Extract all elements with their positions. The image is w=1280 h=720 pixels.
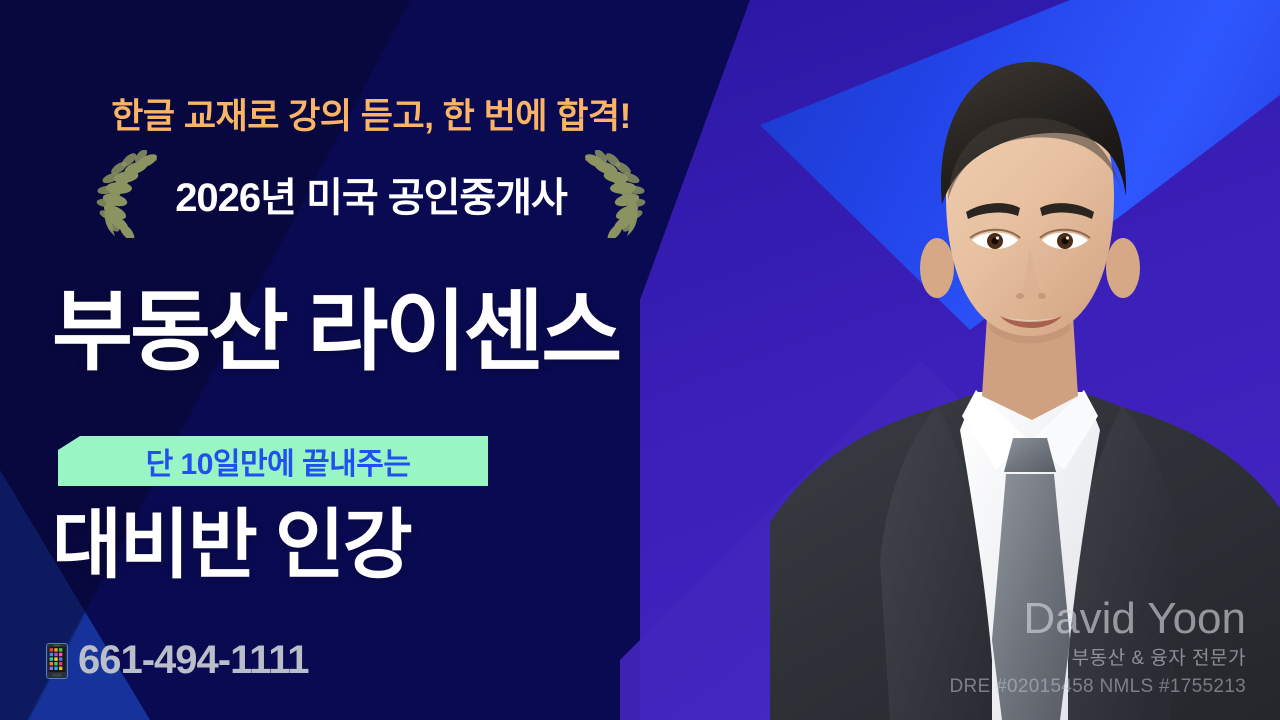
main-title: 부동산 라이센스 [52, 288, 619, 376]
badge-label: 단 10일만에 끝내주는 [136, 439, 411, 483]
phone-number[interactable]: 661-494-1111 [78, 638, 308, 683]
phone-row[interactable]: 661-494-1111 [46, 638, 308, 683]
text-content: 한글 교재로 강의 듣고, 한 번에 합격! [0, 0, 790, 720]
highlight-badge: 단 10일만에 끝내주는 [58, 436, 488, 486]
agent-licenses: DRE #02015458 NMLS #1755213 [950, 677, 1246, 698]
laurel-wreath-right-icon [575, 150, 649, 238]
laurel-wreath-left-icon [93, 150, 167, 238]
sub-title: 대비반 인강 [52, 508, 411, 584]
award-row: 2026년 미국 공인중개사 [0, 148, 742, 240]
signature-block: David Yoon 부동산 & 융자 전문가 DRE #02015458 NM… [950, 595, 1246, 698]
agent-role: 부동산 & 융자 전문가 [950, 649, 1246, 670]
promo-banner: 한글 교재로 강의 듣고, 한 번에 합격! [0, 0, 1280, 720]
subheadline: 한글 교재로 강의 듣고, 한 번에 합격! [0, 88, 742, 139]
mobile-phone-icon [46, 643, 68, 679]
agent-name: David Yoon [950, 595, 1246, 643]
award-title: 2026년 미국 공인중개사 [175, 165, 567, 223]
